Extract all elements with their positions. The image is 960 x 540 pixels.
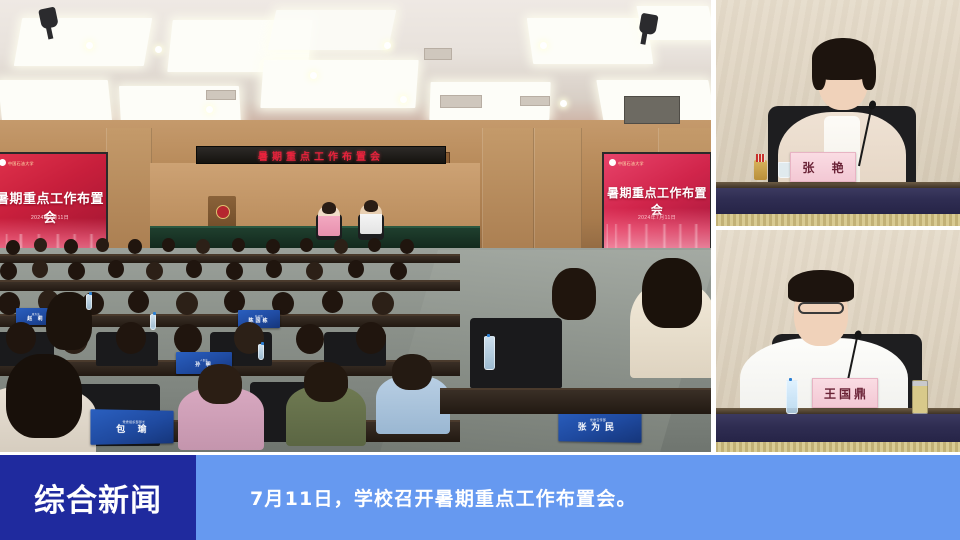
ceiling-light-panel — [0, 80, 112, 122]
ceiling-light-panel — [260, 60, 418, 108]
audience-head — [146, 262, 163, 280]
audience-head — [64, 239, 78, 254]
nameplate-name: 赵 莉 — [27, 317, 44, 322]
audience-head — [400, 239, 414, 254]
speaker-portrait-top[interactable]: 张 艳 — [716, 0, 960, 226]
news-category-tag[interactable]: 综合新闻 — [0, 455, 196, 540]
wall-panel — [534, 128, 582, 260]
audience-head — [186, 260, 202, 278]
photo-collage: 中国石油大学 暑期重点工作布置会 2024年7月11日 暑期重点工作布置会 中国… — [0, 0, 960, 455]
audience-head — [196, 239, 210, 254]
nameplate-name: 张为民 — [578, 423, 620, 432]
news-photo-collage-page: 中国石油大学 暑期重点工作布置会 2024年7月11日 暑期重点工作布置会 中国… — [0, 0, 960, 540]
audience-head — [368, 238, 381, 252]
audience-head — [34, 238, 47, 252]
spotlight-icon — [540, 42, 547, 49]
ceiling-light-panel — [268, 10, 397, 50]
audience-head — [552, 268, 596, 320]
audience-desk-row — [0, 254, 460, 263]
conference-hall-photo[interactable]: 中国石油大学 暑期重点工作布置会 2024年7月11日 暑期重点工作布置会 中国… — [0, 0, 711, 452]
nameplate-org: 科研院 — [255, 314, 263, 318]
audience-head — [6, 322, 36, 354]
audience-head — [306, 262, 323, 280]
audience-head — [6, 240, 20, 255]
desk-nameplate-baoyu: 党委组织部部长 包 瑜 — [90, 409, 173, 445]
audience-head — [162, 238, 175, 252]
audience-head — [348, 260, 364, 278]
water-bottle — [484, 336, 495, 370]
speaker-name-top: 张 艳 — [795, 159, 850, 176]
nameplate-org: 人事处 — [200, 358, 208, 362]
spotlight-icon — [384, 42, 391, 49]
audience-head — [176, 292, 198, 315]
audience-head — [96, 238, 109, 252]
audience-head — [322, 290, 343, 313]
audience-head — [390, 262, 407, 280]
led-right-graphic — [604, 208, 710, 250]
audience-head — [304, 362, 348, 402]
audience-head — [266, 260, 282, 278]
ceiling-vent — [440, 95, 482, 108]
speaker-nameplate-bottom: 王国鼎 — [812, 378, 878, 408]
ceiling-light-panel — [527, 18, 653, 64]
table-skirt — [716, 442, 960, 452]
nameplate-name: 包 瑜 — [116, 425, 151, 434]
audience-head — [334, 239, 348, 254]
thermos-cup — [912, 380, 928, 414]
spotlight-icon — [206, 106, 213, 113]
ceiling — [0, 0, 711, 132]
stage-wall — [150, 163, 480, 233]
ceiling-light-panel — [14, 18, 152, 66]
speaker-name-bottom: 王国鼎 — [821, 385, 869, 402]
audience-head — [300, 238, 313, 252]
wall-vent — [624, 96, 680, 124]
university-logo: 中国石油大学 — [609, 159, 644, 167]
speaker-hair — [812, 56, 826, 90]
audience-head — [356, 322, 386, 354]
stage-speaker — [360, 204, 382, 234]
table-skirt — [716, 214, 960, 226]
news-banner: 综合新闻 7月11日，学校召开暑期重点工作布置会。 — [0, 455, 960, 540]
conference-table — [716, 188, 960, 214]
ceiling-vent — [206, 90, 236, 100]
audience-head — [372, 292, 394, 315]
audience-head — [296, 324, 324, 354]
speaker-nameplate-top: 张 艳 — [790, 152, 856, 182]
eyeglasses-icon — [798, 302, 844, 314]
audience-head — [642, 258, 702, 328]
stage-banner-text: 暑期重点工作布置会 — [258, 148, 384, 163]
ceiling-vent — [424, 48, 452, 60]
water-bottle — [786, 380, 798, 414]
spotlight-icon — [310, 72, 317, 79]
speaker-hair — [862, 56, 876, 90]
led-screen-right: 中国石油大学 暑期重点工作布置会 2024年7月11日 — [602, 152, 711, 252]
water-bottle — [150, 314, 156, 330]
wall-panel — [482, 128, 534, 260]
audience-head — [0, 262, 17, 280]
news-caption-area: 7月11日，学校召开暑期重点工作布置会。 — [196, 455, 960, 540]
audience-desk-row — [0, 280, 460, 291]
news-category-label: 综合新闻 — [34, 475, 162, 520]
audience-head — [128, 239, 142, 254]
stage-speaker — [318, 206, 340, 236]
spotlight-icon — [86, 42, 93, 49]
audience-head — [392, 354, 432, 390]
nameplate-org: 党委组织部部长 — [122, 420, 145, 424]
audience-head — [198, 364, 242, 404]
audience-head — [128, 290, 149, 313]
stage-banner: 暑期重点工作布置会 — [196, 146, 446, 164]
audience-area: 教务处 赵 莉 科研院 陈国栋 — [0, 236, 460, 452]
audience-head — [232, 238, 245, 252]
audience-head — [6, 354, 82, 438]
water-bottle — [258, 344, 264, 360]
nameplate-org: 党委宣传部 — [590, 418, 606, 422]
university-logo: 中国石油大学 — [0, 159, 34, 167]
audience-head — [108, 260, 124, 278]
audience-desk-row — [440, 388, 711, 414]
news-caption-text: 7月11日，学校召开暑期重点工作布置会。 — [250, 484, 637, 511]
audience-head — [226, 262, 243, 280]
speaker-portrait-bottom[interactable]: 王国鼎 — [716, 230, 960, 452]
audience-head — [68, 262, 85, 280]
audience-head — [266, 239, 280, 254]
audience-head — [174, 324, 202, 354]
water-bottle — [86, 294, 92, 310]
speaker-hair — [788, 270, 854, 302]
spotlight-icon — [400, 96, 407, 103]
audience-head — [116, 322, 146, 354]
audience-head — [32, 260, 48, 278]
spotlight-icon — [560, 100, 567, 107]
ceiling-vent — [520, 96, 550, 106]
spotlight-icon — [155, 46, 162, 53]
conference-table — [716, 414, 960, 442]
pen-holder — [754, 160, 767, 180]
nameplate-org: 教务处 — [32, 312, 40, 316]
